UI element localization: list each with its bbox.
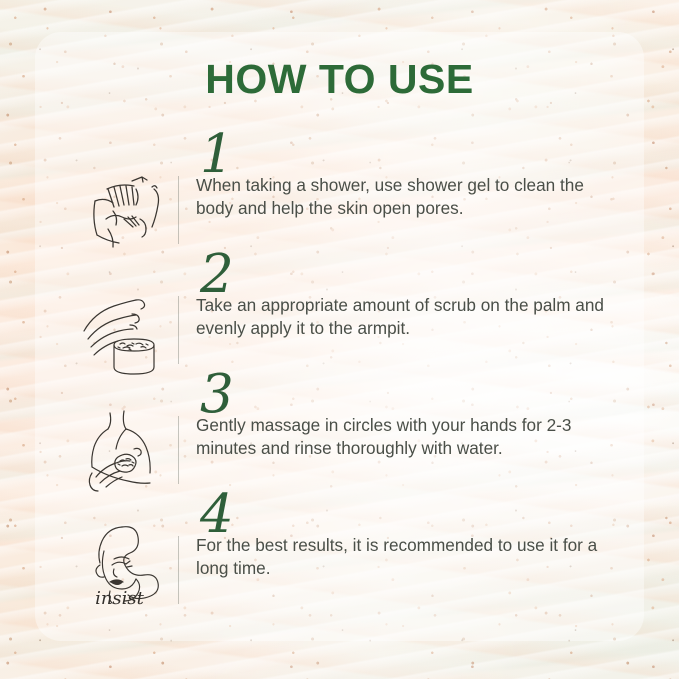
instructions-panel: HOW TO USE 1 When taking a shower, use s… xyxy=(0,0,679,679)
page-title: HOW TO USE xyxy=(0,56,679,103)
step-divider-3 xyxy=(178,416,179,484)
brand-signature: insist xyxy=(62,588,177,609)
step-divider-4 xyxy=(178,536,179,604)
hand-over-scrub-jar-icon xyxy=(62,283,177,378)
step-text-3: Gently massage in circles with your hand… xyxy=(196,414,616,459)
step-text-4: For the best results, it is recommended … xyxy=(196,534,616,579)
step-divider-1 xyxy=(178,176,179,244)
massaging-armpit-icon xyxy=(62,403,177,498)
showering-person-icon xyxy=(62,163,177,258)
step-divider-2 xyxy=(178,296,179,364)
step-text-2: Take an appropriate amount of scrub on t… xyxy=(196,294,616,339)
step-text-1: When taking a shower, use shower gel to … xyxy=(196,174,616,219)
